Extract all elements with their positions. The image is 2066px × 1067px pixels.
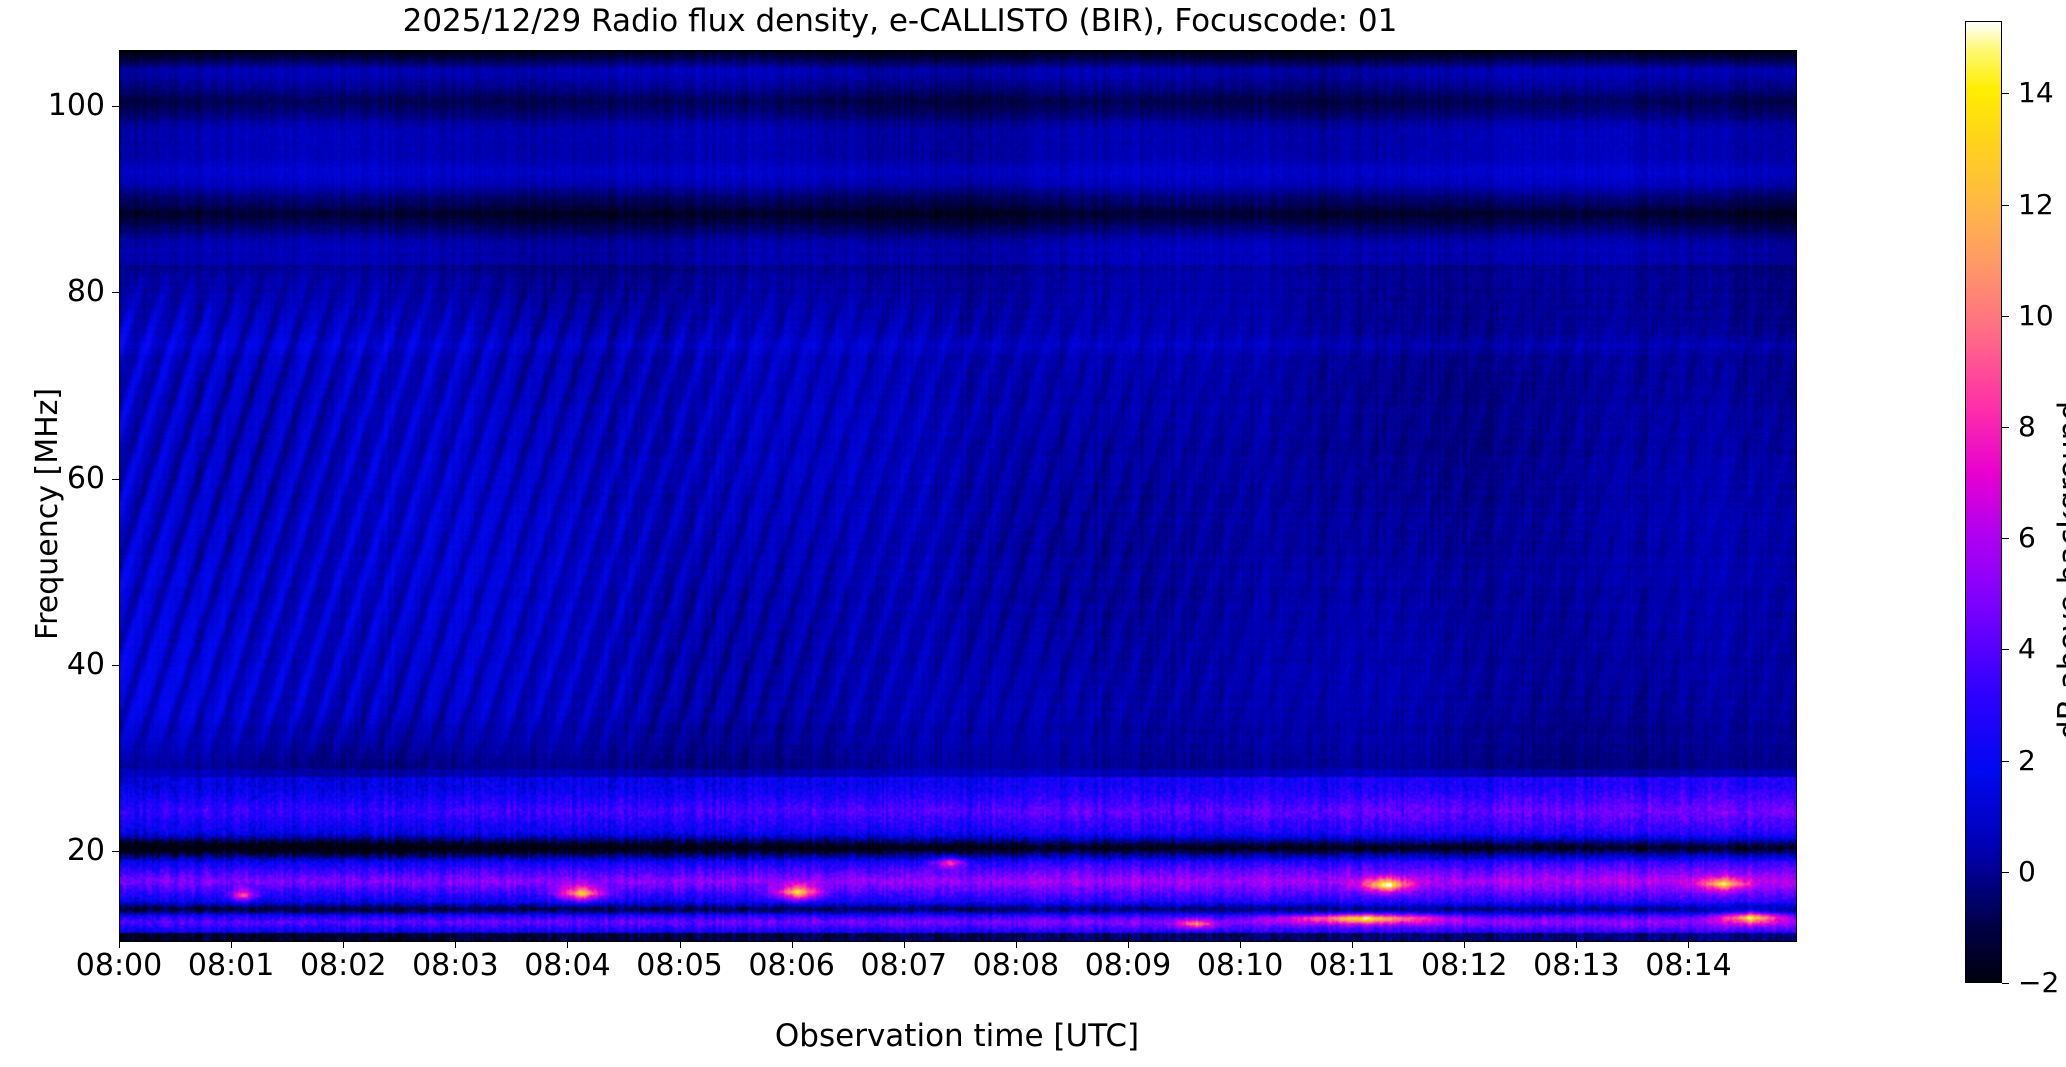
spectrogram-axes — [119, 50, 1797, 942]
x-tick-mark — [1464, 941, 1465, 948]
figure-canvas: 2025/12/29 Radio flux density, e-CALLIST… — [0, 0, 2066, 1067]
x-tick-mark — [1352, 941, 1353, 948]
y-tick-label: 80 — [67, 277, 105, 307]
colorbar-tick-mark — [2002, 205, 2009, 206]
x-tick-label: 08:00 — [76, 950, 162, 982]
x-tick-mark — [904, 941, 905, 948]
x-tick-mark — [792, 941, 793, 948]
chart-title: 2025/12/29 Radio flux density, e-CALLIST… — [0, 2, 1800, 40]
colorbar-tick-mark — [2002, 872, 2009, 873]
y-tick-mark — [112, 106, 119, 107]
x-tick-label: 08:13 — [1533, 950, 1619, 982]
y-tick-label: 40 — [67, 650, 105, 680]
y-tick-mark — [112, 851, 119, 852]
colorbar-tick-mark — [2002, 983, 2009, 984]
y-tick-mark — [112, 292, 119, 293]
y-tick-label: 60 — [67, 464, 105, 494]
x-tick-mark — [1128, 941, 1129, 948]
colorbar-tick-label: 10 — [2018, 302, 2054, 330]
x-tick-mark — [1688, 941, 1689, 948]
x-tick-label: 08:04 — [524, 950, 610, 982]
colorbar-tick-label: −2 — [2018, 969, 2059, 997]
colorbar-label: dB above background — [2052, 401, 2066, 740]
colorbar-tick-label: 6 — [2018, 524, 2036, 552]
y-tick-mark — [112, 479, 119, 480]
colorbar-tick-mark — [2002, 538, 2009, 539]
x-tick-label: 08:06 — [748, 950, 834, 982]
y-tick-label: 20 — [67, 836, 105, 866]
colorbar-tick-label: 14 — [2018, 79, 2054, 107]
x-tick-mark — [1016, 941, 1017, 948]
x-tick-label: 08:07 — [861, 950, 947, 982]
x-axis-label: Observation time [UTC] — [119, 1018, 1795, 1054]
x-tick-mark — [1240, 941, 1241, 948]
x-tick-label: 08:05 — [636, 950, 722, 982]
y-axis-label: Frequency [MHz] — [30, 388, 65, 640]
x-tick-mark — [119, 941, 120, 948]
x-tick-label: 08:09 — [1085, 950, 1171, 982]
x-tick-label: 08:12 — [1421, 950, 1507, 982]
colorbar-gradient — [1965, 21, 2002, 983]
x-tick-label: 08:02 — [300, 950, 386, 982]
spectrogram-image — [120, 51, 1796, 941]
colorbar-tick-label: 0 — [2018, 858, 2036, 886]
x-tick-label: 08:14 — [1645, 950, 1731, 982]
y-tick-label: 100 — [48, 91, 105, 121]
colorbar-tick-label: 8 — [2018, 413, 2036, 441]
colorbar-tick-mark — [2002, 649, 2009, 650]
x-tick-label: 08:10 — [1197, 950, 1283, 982]
x-tick-mark — [343, 941, 344, 948]
colorbar-tick-mark — [2002, 93, 2009, 94]
x-tick-label: 08:08 — [973, 950, 1059, 982]
colorbar-tick-mark — [2002, 427, 2009, 428]
x-tick-mark — [231, 941, 232, 948]
x-tick-mark — [455, 941, 456, 948]
x-tick-label: 08:11 — [1309, 950, 1395, 982]
colorbar-tick-label: 2 — [2018, 747, 2036, 775]
colorbar-tick-label: 4 — [2018, 635, 2036, 663]
x-tick-mark — [567, 941, 568, 948]
x-tick-label: 08:01 — [188, 950, 274, 982]
colorbar-tick-mark — [2002, 761, 2009, 762]
x-tick-label: 08:03 — [412, 950, 498, 982]
x-tick-mark — [1576, 941, 1577, 948]
colorbar-tick-label: 12 — [2018, 191, 2054, 219]
y-tick-mark — [112, 665, 119, 666]
x-tick-mark — [680, 941, 681, 948]
colorbar-tick-mark — [2002, 316, 2009, 317]
